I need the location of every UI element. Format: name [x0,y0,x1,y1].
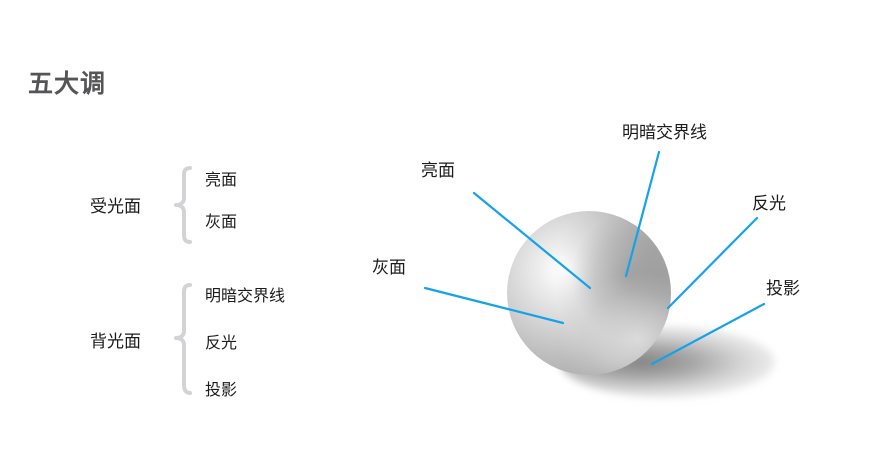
brace-shadow-side [172,283,194,395]
outline-group-label-shadow-side: 背光面 [90,333,141,350]
callout-reflected-light: 反光 [752,195,786,212]
brace-lit-side [172,166,194,244]
callout-terminator-line: 明暗交界线 [622,124,707,141]
leader-line-reflected-light [668,218,757,308]
callout-leader-lines [0,0,892,459]
outline-item-bright-face: 亮面 [205,173,237,189]
callout-gray-face: 灰面 [372,259,406,276]
outline-item-cast-shadow: 投影 [205,383,237,399]
outline-item-terminator-line: 明暗交界线 [205,289,285,305]
outline-group-label-lit-side: 受光面 [90,198,141,215]
outline-item-reflected-light: 反光 [205,336,237,352]
slide-canvas: 五大调 受光面 亮面 灰面 背光面 明暗交界线 反光 投影 亮面 灰面 明暗交界… [0,0,892,459]
callout-cast-shadow: 投影 [766,280,800,297]
sphere-reflected-light [507,211,671,375]
outline-item-gray-face: 灰面 [205,215,237,231]
page-title: 五大调 [28,72,106,97]
callout-bright-face: 亮面 [421,162,455,179]
